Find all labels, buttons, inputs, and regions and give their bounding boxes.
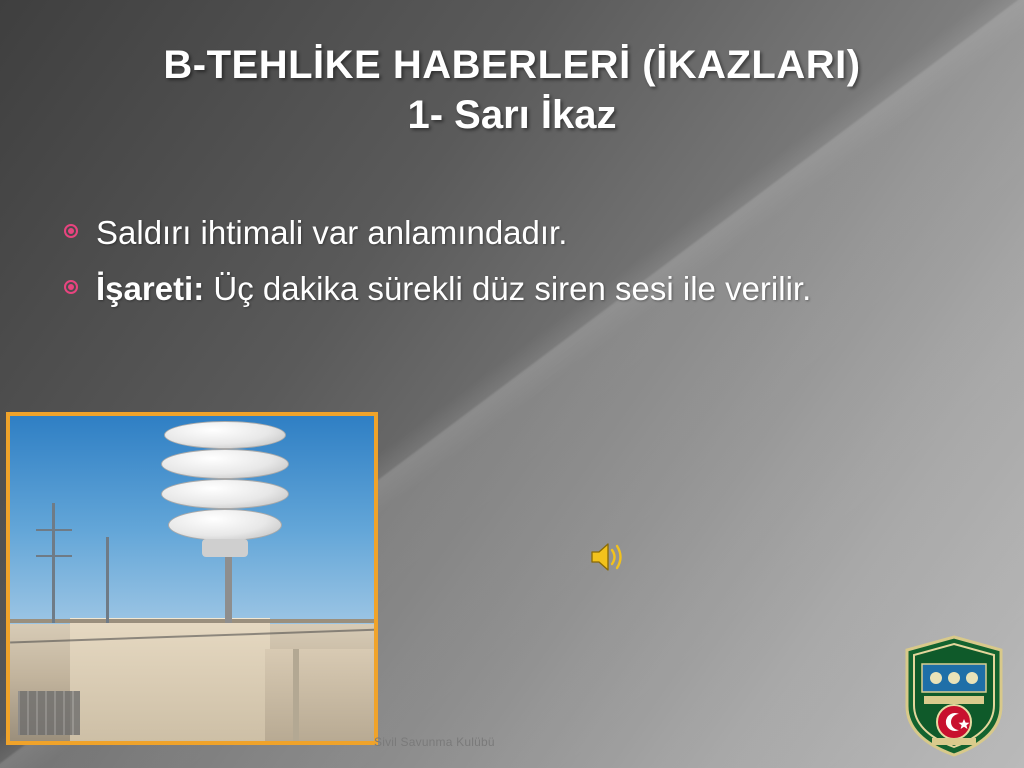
speaker-icon[interactable] bbox=[590, 541, 626, 573]
bullet-text-1: Saldırı ihtimali var anlamındadır. bbox=[96, 212, 567, 254]
bullet-ring-icon bbox=[62, 222, 84, 244]
civil-defense-emblem-icon bbox=[902, 634, 1006, 758]
presentation-slide: B-TEHLİKE HABERLERİ (İKAZLARI) 1- Sarı İ… bbox=[0, 0, 1024, 768]
bullet-ring-icon bbox=[62, 278, 84, 300]
photo-building-secondary bbox=[265, 649, 378, 741]
siren-photo bbox=[6, 412, 378, 745]
photo-antenna-right bbox=[106, 537, 109, 623]
list-item: İşareti: Üç dakika sürekli düz siren ses… bbox=[62, 268, 962, 310]
title-line-primary: B-TEHLİKE HABERLERİ (İKAZLARI) bbox=[0, 44, 1024, 87]
slide-title: B-TEHLİKE HABERLERİ (İKAZLARI) 1- Sarı İ… bbox=[0, 44, 1024, 137]
bullet-text-2: İşareti: Üç dakika sürekli düz siren ses… bbox=[96, 268, 811, 310]
bullet-text-2-lead: İşareti: bbox=[96, 270, 204, 307]
bullet-text-2-body: Üç dakika sürekli düz siren sesi ile ver… bbox=[204, 270, 811, 307]
footer-note: Sivil Savunma Kulübü bbox=[374, 735, 495, 749]
photo-window-grill bbox=[18, 691, 80, 735]
list-item: Saldırı ihtimali var anlamındadır. bbox=[62, 212, 962, 254]
bullet-list: Saldırı ihtimali var anlamındadır. İşare… bbox=[62, 212, 962, 324]
photo-roofline bbox=[10, 619, 374, 623]
title-line-secondary: 1- Sarı İkaz bbox=[0, 93, 1024, 137]
photo-pipe bbox=[293, 649, 299, 741]
photo-antenna-left bbox=[52, 503, 55, 623]
